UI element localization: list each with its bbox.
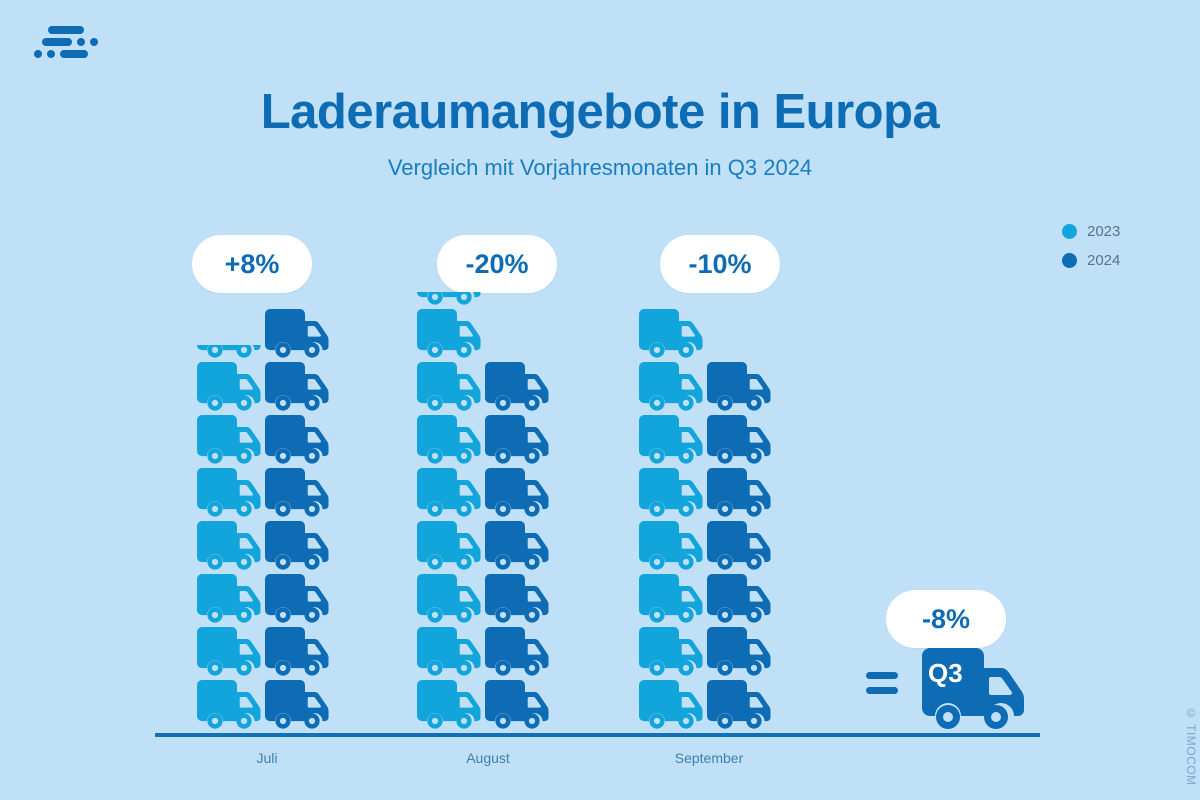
truck-pictogram [264,361,330,414]
truck-pictogram [484,467,550,520]
truck-pictogram [264,679,330,732]
truck-pictogram [638,308,704,361]
truck-pictogram [706,679,772,732]
truck-pictogram [264,520,330,573]
axis-label-juli: Juli [187,750,347,766]
q3-truck-icon: Q3 [912,646,1032,732]
truck-pictogram [416,679,482,732]
truck-pictogram [196,467,262,520]
truck-pictogram [638,520,704,573]
bar-august-2024 [484,361,550,732]
truck-pictogram [196,345,262,361]
truck-pictogram [706,414,772,467]
truck-pictogram [484,679,550,732]
truck-pictogram [706,573,772,626]
truck-pictogram [416,467,482,520]
truck-pictogram [416,626,482,679]
truck-pictogram [264,467,330,520]
truck-pictogram [484,626,550,679]
truck-pictogram [638,467,704,520]
truck-pictogram [416,573,482,626]
truck-pictogram [638,626,704,679]
truck-pictogram [638,679,704,732]
truck-pictogram [196,361,262,414]
truck-pictogram [196,573,262,626]
truck-pictogram [706,626,772,679]
truck-pictogram [706,467,772,520]
truck-pictogram [638,414,704,467]
truck-pictogram [484,573,550,626]
truck-pictogram [484,414,550,467]
equals-icon [866,672,898,698]
bar-august-2023 [416,292,482,732]
bar-juli-2023 [196,345,262,732]
truck-pictogram [484,361,550,414]
axis-label-august: August [408,750,568,766]
truck-pictogram [706,520,772,573]
truck-pictogram [706,361,772,414]
truck-pictogram [264,626,330,679]
bar-juli-2024 [264,308,330,732]
truck-pictogram [196,626,262,679]
truck-pictogram [196,414,262,467]
q3-truck-label: Q3 [928,660,978,686]
truck-pictogram [196,679,262,732]
truck-pictogram [264,308,330,361]
bar-september-2023 [638,308,704,732]
truck-pictogram [196,520,262,573]
truck-pictogram [264,573,330,626]
chart-baseline [155,733,1040,737]
truck-pictogram [416,308,482,361]
copyright-text: © TIMOCOM [1184,706,1198,786]
truck-pictogram [264,414,330,467]
bar-september-2024 [706,361,772,732]
quarter-summary: Q3 [862,650,1042,730]
truck-pictogram [416,292,482,308]
truck-pictogram [484,520,550,573]
truck-pictogram [638,573,704,626]
truck-pictogram [416,414,482,467]
truck-pictogram [416,361,482,414]
truck-pictogram [638,361,704,414]
axis-label-september: September [629,750,789,766]
truck-pictogram [416,520,482,573]
